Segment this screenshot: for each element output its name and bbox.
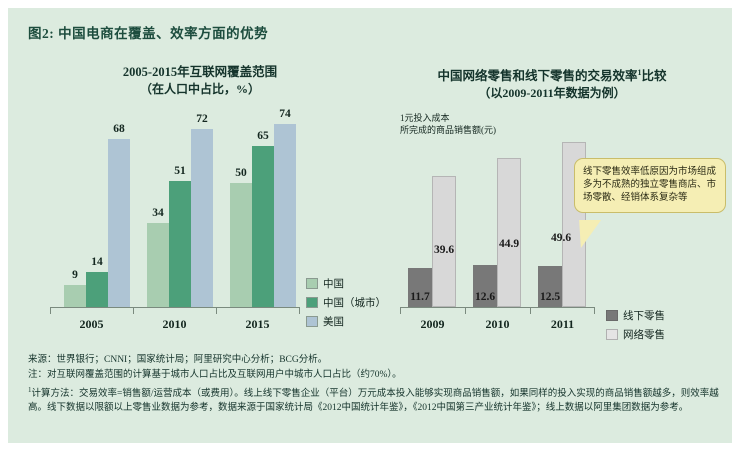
bar-value: 72: [196, 113, 208, 125]
left-chart-legend: 中国 中国（城市） 美国: [306, 276, 386, 333]
bar-value: 11.7: [410, 291, 430, 303]
bar-2010-usa: 72: [191, 129, 213, 307]
left-xlabel-2015: 2015: [216, 317, 299, 332]
legend-swatch-icon: [606, 310, 618, 321]
right-tick-2: [530, 307, 531, 314]
left-x-axis: [50, 307, 300, 308]
left-chart-title-line2: （在人口中占比，%）: [30, 81, 370, 98]
right-chart-title-main: 中国网络零售和线下零售的交易效率: [437, 69, 637, 83]
right-ylabel-line1: 1元投入成本: [400, 112, 496, 124]
bar-2010-china-urban: 51: [169, 181, 191, 307]
bar-value: 50: [235, 167, 247, 179]
legend-label: 线下零售: [623, 308, 665, 323]
right-xlabel-2011: 2011: [530, 317, 595, 332]
footnotes: 来源：世界银行；CNNI；国家统计局；阿里研究中心分析；BCG分析。 注：对互联…: [28, 353, 720, 416]
right-xlabel-2010: 2010: [465, 317, 530, 332]
bar-value: 49.6: [551, 232, 571, 244]
callout-box: 线下零售效率低原因为市场组成多为不成熟的独立零售商店、市场零散、经销体系复杂等: [574, 158, 726, 213]
bar-2015-china-urban: 65: [252, 146, 274, 307]
legend-swatch-icon: [306, 278, 318, 289]
right-chart-panel: 中国网络零售和线下零售的交易效率1比较 （以2009-2011年数据为例） 1元…: [384, 64, 720, 364]
left-xlabel-2005: 2005: [50, 317, 133, 332]
bar-2005-china: 9: [64, 285, 86, 307]
right-xlabel-2009: 2009: [400, 317, 465, 332]
legend-swatch-icon: [606, 329, 618, 340]
legend-label: 网络零售: [623, 327, 665, 342]
left-tick-2: [216, 307, 217, 314]
bar-2015-usa: 74: [274, 124, 296, 307]
right-bar-group-2009: 11.7 39.6: [408, 176, 456, 307]
right-chart-legend: 线下零售 网络零售: [606, 308, 665, 346]
right-tick-3: [594, 307, 595, 314]
right-plot-area: 11.7 39.6 12.6 44.9 12.5: [400, 142, 595, 308]
footnote-line: 1计算方法：交易效率=销售额/运营成本（或费用）。线上线下零售企业（平台）万元成…: [28, 383, 720, 415]
left-bar-group-2015: 50 65 74: [230, 124, 296, 307]
legend-swatch-icon: [306, 297, 318, 308]
left-plot-area: 9 14 68 34 51 72: [50, 110, 300, 308]
left-tick-0: [50, 307, 51, 314]
bar-value: 51: [174, 165, 186, 177]
bar-value: 12.6: [475, 291, 495, 303]
legend-swatch-icon: [306, 316, 318, 327]
left-xlabel-2010: 2010: [133, 317, 216, 332]
right-bar-group-2010: 12.6 44.9: [473, 158, 521, 307]
left-tick-3: [299, 307, 300, 314]
left-chart-panel: 2005-2015年互联网覆盖范围 （在人口中占比，%） 9 14 68: [30, 64, 370, 364]
bar-2005-usa: 68: [108, 139, 130, 307]
source-line: 来源：世界银行；CNNI；国家统计局；阿里研究中心分析；BCG分析。: [28, 353, 720, 367]
left-chart-title-line1: 2005-2015年互联网覆盖范围: [30, 64, 370, 81]
figure-container: 图2: 中国电商在覆盖、效率方面的优势 2005-2015年互联网覆盖范围 （在…: [8, 8, 732, 443]
right-chart-ylabel: 1元投入成本 所完成的商品销售额(元): [400, 112, 496, 136]
bar-value: 14: [91, 256, 103, 268]
left-tick-1: [133, 307, 134, 314]
bar-2009-offline: 11.7: [408, 268, 432, 307]
bar-value: 68: [113, 123, 125, 135]
bar-value: 12.5: [540, 291, 560, 303]
bar-value: 44.9: [499, 238, 519, 250]
bar-2010-offline: 12.6: [473, 265, 497, 307]
bar-2010-online: 44.9: [497, 158, 521, 307]
right-chart-title: 中国网络零售和线下零售的交易效率1比较 （以2009-2011年数据为例）: [384, 64, 720, 102]
figure-title: 图2: 中国电商在覆盖、效率方面的优势: [28, 22, 268, 42]
right-tick-0: [400, 307, 401, 314]
bar-2009-online: 39.6: [432, 176, 456, 307]
left-bar-group-2005: 9 14 68: [64, 139, 130, 307]
bar-2015-china: 50: [230, 183, 252, 307]
legend-item-usa: 美国: [306, 314, 386, 329]
legend-label: 中国: [323, 276, 344, 291]
bar-2010-china: 34: [147, 223, 169, 307]
legend-item-online-retail: 网络零售: [606, 327, 665, 342]
footnote-text: 计算方法：交易效率=销售额/运营成本（或费用）。线上线下零售企业（平台）万元成本…: [28, 389, 719, 413]
right-chart-title-tail: 比较: [642, 69, 667, 83]
legend-item-china-urban: 中国（城市）: [306, 295, 386, 310]
legend-item-china: 中国: [306, 276, 386, 291]
note-line: 注：对互联网覆盖范围的计算基于城市人口占比及互联网用户中城市人口占比（约70%）…: [28, 368, 720, 382]
bar-value: 65: [257, 130, 269, 142]
legend-item-offline-retail: 线下零售: [606, 308, 665, 323]
right-tick-1: [465, 307, 466, 314]
bar-2005-china-urban: 14: [86, 272, 108, 307]
left-bar-group-2010: 34 51 72: [147, 129, 213, 307]
bar-value: 9: [72, 269, 78, 281]
bar-value: 34: [152, 207, 164, 219]
right-chart-title-line1: 中国网络零售和线下零售的交易效率1比较: [384, 64, 720, 85]
right-ylabel-line2: 所完成的商品销售额(元): [400, 124, 496, 136]
bar-2011-offline: 12.5: [538, 266, 562, 307]
right-x-axis: [400, 307, 595, 308]
left-chart-title: 2005-2015年互联网覆盖范围 （在人口中占比，%）: [30, 64, 370, 98]
right-chart-title-line2: （以2009-2011年数据为例）: [384, 85, 720, 102]
legend-label: 中国（城市）: [323, 295, 386, 310]
legend-label: 美国: [323, 314, 344, 329]
bar-value: 74: [279, 108, 291, 120]
bar-value: 39.6: [434, 244, 454, 256]
